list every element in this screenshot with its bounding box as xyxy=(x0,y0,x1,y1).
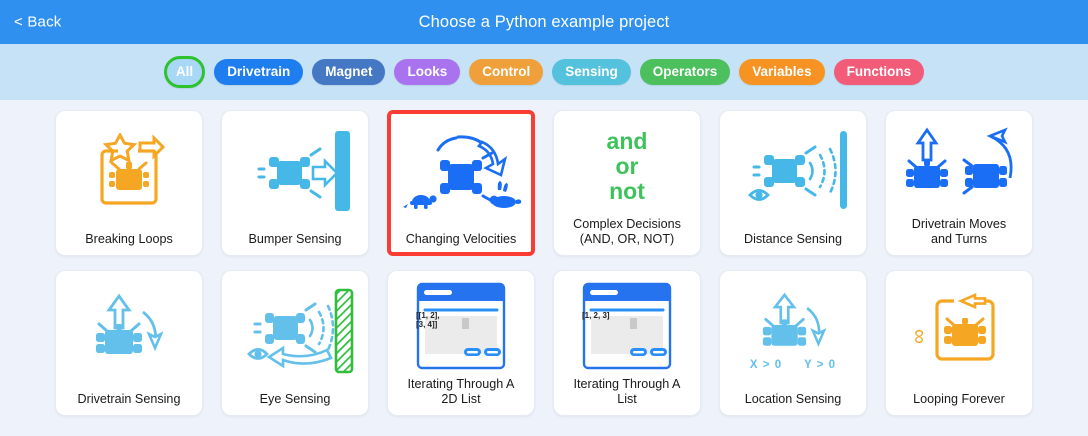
axis-label-y: Y > 0 xyxy=(804,359,836,371)
robot-xy-arrows-icon: X > 0 Y > 0 xyxy=(720,271,866,392)
robot-sonar-wall-icon xyxy=(720,111,866,232)
project-grid: Breaking Loops xyxy=(0,110,1088,416)
project-card-label: Breaking Loops xyxy=(56,232,202,256)
project-card-label: Looping Forever xyxy=(886,392,1032,416)
project-card-label: Changing Velocities xyxy=(391,232,531,253)
project-grid-area: Breaking Loops xyxy=(0,100,1088,436)
project-card-label: Drivetrain Moves and Turns xyxy=(886,217,1032,255)
category-filter-bar: All Drivetrain Magnet Looks Control Sens… xyxy=(0,44,1088,100)
project-card-changing-velocities[interactable]: Changing Velocities xyxy=(387,110,535,256)
robot-up-down-arrows-icon xyxy=(56,271,202,392)
project-card-looping-forever[interactable]: ∞ Looping Forever xyxy=(885,270,1033,416)
back-button[interactable]: < Back xyxy=(10,12,65,33)
project-card-complex-decisions[interactable]: and or not Complex Decisions (AND, OR, N… xyxy=(553,110,701,256)
logic-word-and: and xyxy=(607,129,648,154)
filter-chip-magnet[interactable]: Magnet xyxy=(312,59,385,86)
filter-chip-operators[interactable]: Operators xyxy=(640,59,731,86)
project-card-distance-sensing[interactable]: Distance Sensing xyxy=(719,110,867,256)
filter-chip-sensing[interactable]: Sensing xyxy=(552,59,631,86)
filter-chip-functions[interactable]: Functions xyxy=(834,59,925,86)
logic-word-not: not xyxy=(609,179,645,204)
project-card-label: Location Sensing xyxy=(720,392,866,416)
project-card-iterating-2d-list[interactable]: [[1, 2], [3, 4]] Iterating Through A 2D … xyxy=(387,270,535,416)
loop-robot-infinity-icon: ∞ xyxy=(886,271,1032,392)
project-card-label: Drivetrain Sensing xyxy=(56,392,202,416)
robot-eye-green-wall-icon xyxy=(222,271,368,392)
filter-chip-looks[interactable]: Looks xyxy=(394,59,460,86)
project-card-label: Complex Decisions (AND, OR, NOT) xyxy=(554,217,700,255)
project-card-drivetrain-sensing[interactable]: Drivetrain Sensing xyxy=(55,270,203,416)
console-code-text: [1, 2, 3] xyxy=(582,311,610,320)
project-card-drivetrain-moves-and-turns[interactable]: Drivetrain Moves and Turns xyxy=(885,110,1033,256)
console-window-icon: [1, 2, 3] xyxy=(554,271,700,377)
project-card-bumper-sensing[interactable]: Bumper Sensing xyxy=(221,110,369,256)
project-card-label: Distance Sensing xyxy=(720,232,866,256)
axis-label-x: X > 0 xyxy=(750,359,782,371)
project-card-eye-sensing[interactable]: Eye Sensing xyxy=(221,270,369,416)
project-card-label: Iterating Through A List xyxy=(554,377,700,415)
and-or-not-text-icon: and or not xyxy=(554,111,700,217)
loop-robot-star-icon xyxy=(56,111,202,232)
logic-word-or: or xyxy=(615,154,638,179)
page-title: Choose a Python example project xyxy=(0,13,1088,32)
filter-chip-control[interactable]: Control xyxy=(469,59,543,86)
project-card-label: Iterating Through A 2D List xyxy=(388,377,534,415)
filter-chip-drivetrain[interactable]: Drivetrain xyxy=(214,59,303,86)
project-card-location-sensing[interactable]: X > 0 Y > 0 Location Sensing xyxy=(719,270,867,416)
filter-chip-all[interactable]: All xyxy=(164,56,205,89)
example-project-picker: < Back Choose a Python example project A… xyxy=(0,0,1088,436)
two-robots-arrows-icon xyxy=(886,111,1032,217)
app-header: < Back Choose a Python example project xyxy=(0,0,1088,44)
project-card-label: Bumper Sensing xyxy=(222,232,368,256)
robot-turtle-rabbit-icon xyxy=(391,114,531,232)
project-card-label: Eye Sensing xyxy=(222,392,368,416)
robot-bumper-wall-icon xyxy=(222,111,368,232)
project-card-breaking-loops[interactable]: Breaking Loops xyxy=(55,110,203,256)
filter-chip-variables[interactable]: Variables xyxy=(739,59,824,86)
console-code-text: [[1, 2], [3, 4]] xyxy=(416,311,440,329)
project-card-iterating-list[interactable]: [1, 2, 3] Iterating Through A List xyxy=(553,270,701,416)
svg-text:∞: ∞ xyxy=(908,329,931,344)
console-window-icon: [[1, 2], [3, 4]] xyxy=(388,271,534,377)
